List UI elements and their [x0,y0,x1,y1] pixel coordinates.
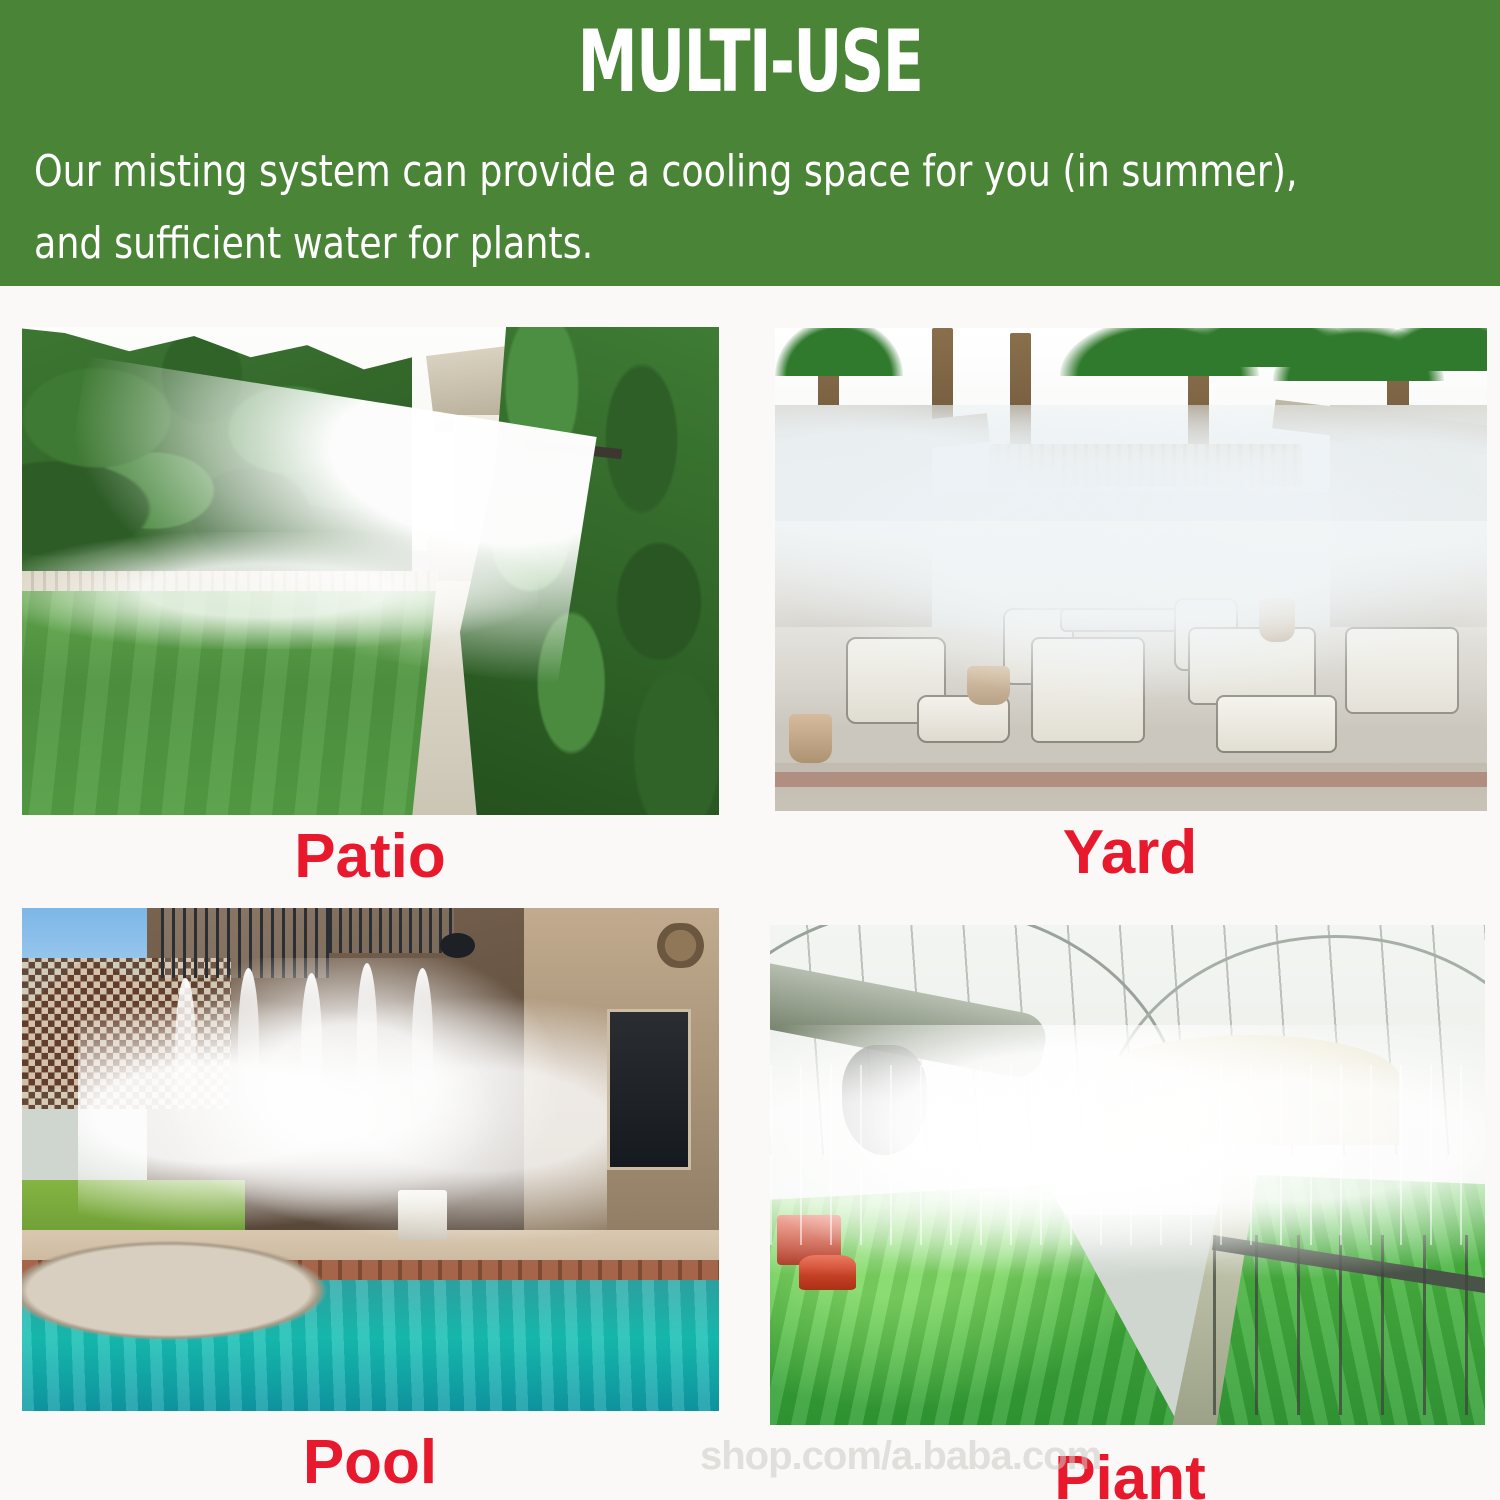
banner-description: Our misting system can provide a cooling… [34,136,1494,280]
caption-plant: Piant [760,1448,1500,1500]
use-case-card-patio [22,327,719,815]
photo-plant [770,925,1485,1425]
window [607,1009,691,1170]
mist-cloud [78,958,608,1270]
photo-pool [22,908,719,1411]
mist-fog-layer [775,521,1487,763]
mist-ground-haze [22,532,538,649]
palm-frond [1373,328,1487,371]
mist-cloud [770,1025,1485,1315]
header-banner: MULTI-USE Our misting system can provide… [0,0,1500,286]
product-infographic: MULTI-USE Our misting system can provide… [0,0,1500,1500]
banner-description-line-1: Our misting system can provide a cooling… [34,136,1377,208]
palm-frond [775,328,903,376]
banner-description-line-2: and sufficient water for plants. [34,208,1377,280]
deck-edging [775,772,1487,786]
wall-medallion [649,923,712,968]
use-case-card-plant [770,925,1485,1425]
photo-patio [22,327,719,815]
caption-pool: Pool [0,1432,740,1494]
photo-yard [775,328,1487,811]
use-case-card-pool [22,908,719,1411]
use-case-card-yard [775,328,1487,811]
page-title: MULTI-USE [165,14,1335,110]
caption-yard: Yard [760,822,1500,884]
balcony-railing [329,908,454,953]
caption-patio: Patio [0,826,740,888]
